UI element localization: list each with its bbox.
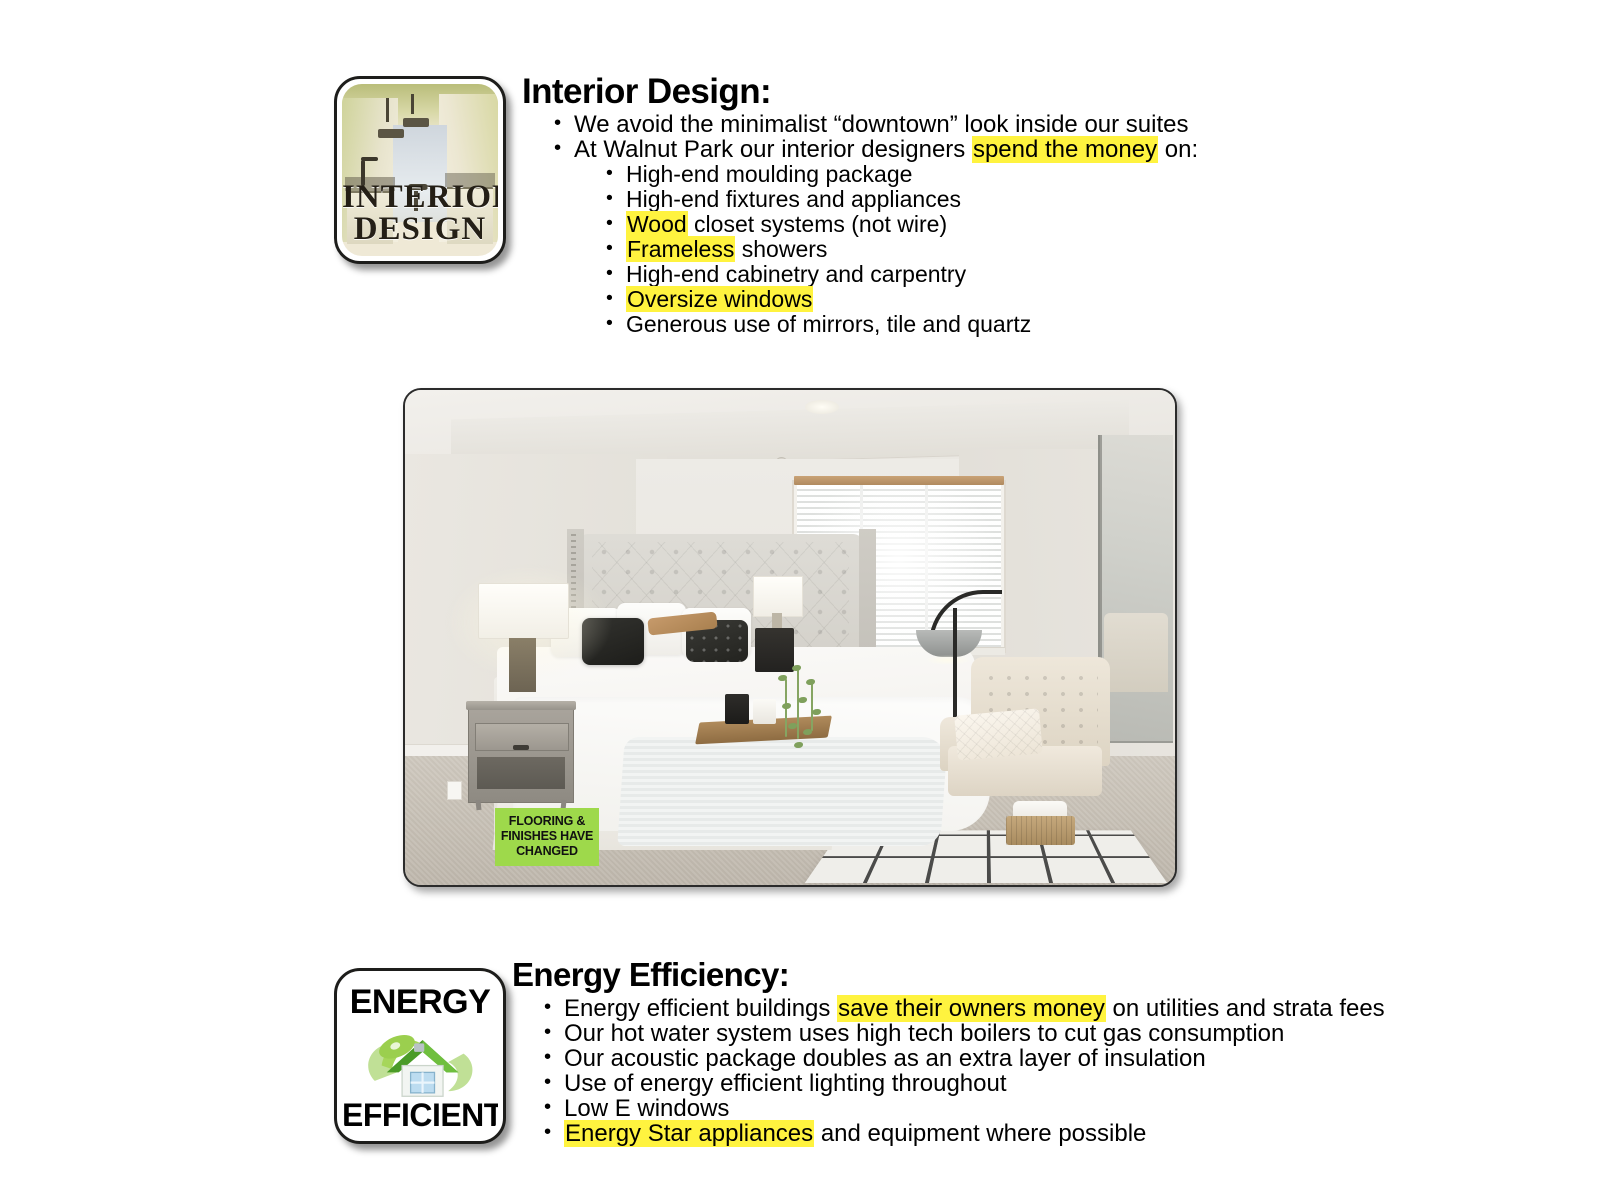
bullet-text-pre: Generous use of mirrors, tile and quartz bbox=[626, 311, 1031, 337]
energy-efficient-badge: ENERGY EFFICIENT bbox=[334, 968, 506, 1144]
nightstand bbox=[468, 707, 574, 803]
secondary-lamp-shade bbox=[753, 576, 803, 618]
list-item: Our acoustic package doubles as an extra… bbox=[538, 1046, 1385, 1071]
list-item: Energy Star appliances and equipment whe… bbox=[538, 1121, 1385, 1146]
badge-line-2: EFFICIENT bbox=[342, 1097, 498, 1134]
ceiling-light-icon bbox=[805, 400, 839, 414]
bullet-highlight: Energy Star appliances bbox=[564, 1120, 814, 1147]
bullet-highlight: Wood bbox=[626, 211, 688, 237]
list-item: Energy efficient buildings save their ow… bbox=[538, 996, 1385, 1021]
bullet-text-post: showers bbox=[735, 236, 827, 262]
interior-design-bullet-list: We avoid the minimalist “downtown” look … bbox=[548, 112, 1198, 337]
list-item: High-end cabinetry and carpentry bbox=[600, 262, 1198, 287]
list-item: Wood closet systems (not wire) bbox=[600, 212, 1198, 237]
arc-lamp-light bbox=[925, 655, 971, 665]
woven-basket bbox=[1006, 816, 1075, 846]
armchair-pillow bbox=[954, 708, 1042, 760]
badge-line-1: ENERGY bbox=[342, 983, 498, 1022]
list-item: Generous use of mirrors, tile and quartz bbox=[600, 312, 1198, 337]
bullet-text-pre: At Walnut Park our interior designers bbox=[574, 136, 972, 163]
list-item: High-end fixtures and appliances bbox=[600, 187, 1198, 212]
bullet-text-pre: Low E windows bbox=[564, 1095, 729, 1122]
bullet-text-pre: High-end moulding package bbox=[626, 161, 912, 187]
list-item: We avoid the minimalist “downtown” look … bbox=[548, 112, 1198, 137]
bullet-text-post: and equipment where possible bbox=[814, 1120, 1146, 1147]
bullet-text-post: closet systems (not wire) bbox=[688, 211, 947, 237]
bullet-highlight: spend the money bbox=[972, 136, 1158, 163]
list-item: Use of energy efficient lighting through… bbox=[538, 1071, 1385, 1096]
green-house-leaf-icon bbox=[356, 1020, 484, 1106]
list-item: High-end moulding package bbox=[600, 162, 1198, 187]
pillow-dark bbox=[582, 618, 644, 665]
list-item: Our hot water system uses high tech boil… bbox=[538, 1021, 1385, 1046]
wall-outlet bbox=[447, 781, 461, 800]
candle-dark bbox=[725, 694, 750, 724]
interior-design-heading: Interior Design: bbox=[522, 72, 771, 112]
bullet-text-pre: High-end fixtures and appliances bbox=[626, 186, 961, 212]
interior-design-badge-wordmark: INTERIOR DESIGN bbox=[342, 181, 498, 246]
badge-line-1: INTERIOR bbox=[342, 181, 498, 213]
interior-design-badge: INTERIOR DESIGN bbox=[334, 76, 506, 264]
bullet-text-post: on: bbox=[1158, 136, 1198, 163]
table-lamp-base bbox=[509, 638, 536, 692]
table-lamp-shade bbox=[478, 583, 569, 639]
energy-efficient-badge-art: ENERGY EFFICIENT bbox=[342, 976, 498, 1136]
badge-line-2: DESIGN bbox=[342, 213, 498, 245]
trailing-plant bbox=[771, 657, 848, 756]
interior-design-badge-art: INTERIOR DESIGN bbox=[342, 84, 498, 256]
bullet-highlight: Oversize windows bbox=[626, 286, 813, 312]
bullet-text-pre: Our acoustic package doubles as an extra… bbox=[564, 1045, 1206, 1072]
bullet-text-post: on utilities and strata fees bbox=[1106, 995, 1385, 1022]
eco-house-icon bbox=[356, 1020, 484, 1106]
bullet-text-pre: High-end cabinetry and carpentry bbox=[626, 261, 966, 287]
bullet-text-pre: Energy efficient buildings bbox=[564, 995, 837, 1022]
list-item: Oversize windows bbox=[600, 287, 1198, 312]
energy-efficiency-heading: Energy Efficiency: bbox=[512, 956, 789, 994]
bullet-text-pre: Our hot water system uses high tech boil… bbox=[564, 1020, 1284, 1047]
energy-efficiency-bullet-list: Energy efficient buildings save their ow… bbox=[538, 996, 1385, 1146]
bullet-highlight: save their owners money bbox=[837, 995, 1106, 1022]
list-item: Frameless showers bbox=[600, 237, 1198, 262]
list-item: At Walnut Park our interior designers sp… bbox=[548, 137, 1198, 337]
bullet-text: We avoid the minimalist “downtown” look … bbox=[574, 111, 1189, 138]
bullet-highlight: Frameless bbox=[626, 236, 735, 262]
bullet-text-pre: Use of energy efficient lighting through… bbox=[564, 1070, 1007, 1097]
list-item: Low E windows bbox=[538, 1096, 1385, 1121]
interior-design-sub-bullet-list: High-end moulding package High-end fixtu… bbox=[574, 162, 1198, 337]
flooring-finishes-callout: FLOORING & FINISHES HAVE CHANGED bbox=[495, 808, 599, 866]
